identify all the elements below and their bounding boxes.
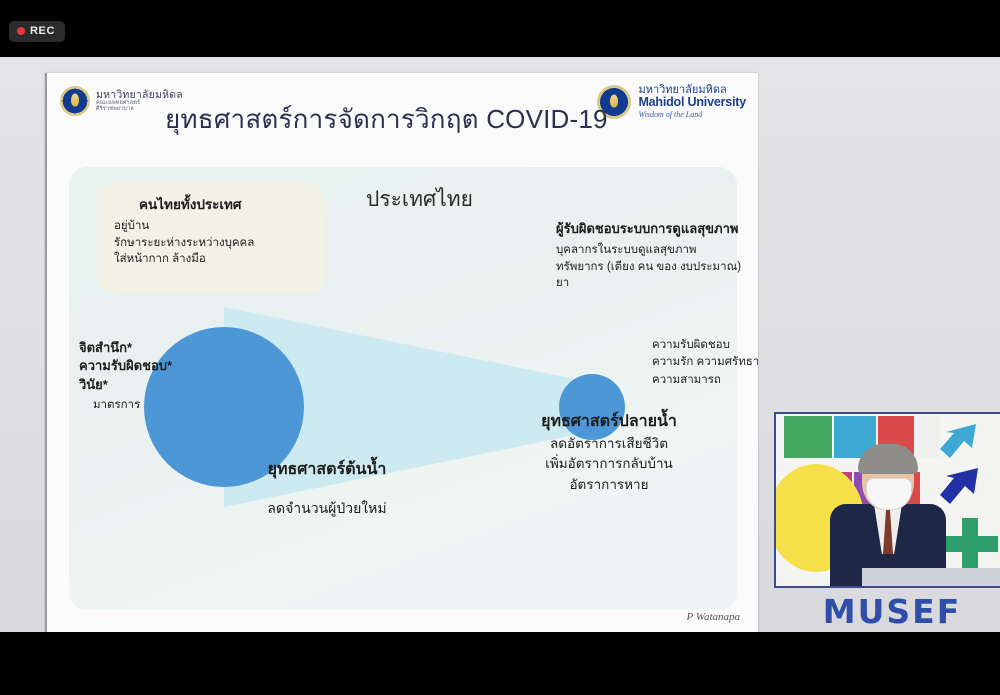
top-black-bar: REC	[0, 0, 1000, 57]
recording-badge: REC	[9, 21, 65, 42]
slide-credit: P Watanapa	[687, 611, 740, 623]
laptop	[862, 568, 1000, 588]
upstream-sub: ลดจำนวนผู้ป่วยใหม่	[217, 498, 437, 520]
speaker-video-tile[interactable]	[774, 412, 1000, 588]
right-value-2: ความรัก ความศรัทธา	[652, 354, 758, 371]
mahidol-university-logo: มหาวิทยาลัยมหิดล Mahidol University Wisd…	[597, 85, 746, 119]
shared-screen-stage: มหาวิทยาลัยมหิดล คณะแพทยศาสตร์ ศิริราชพย…	[0, 57, 1000, 632]
text-block-right-values: ความรับผิดชอบ ความรัก ความศรัทธา ความสาม…	[652, 337, 758, 389]
left-value-sub: มาตรการ	[93, 396, 172, 414]
left-value-1: จิตสำนึก*	[79, 339, 172, 357]
text-block-people: คนไทยทั้งประเทศ อยู่บ้าน รักษาระยะห่างระ…	[114, 193, 254, 268]
recording-label: REC	[30, 25, 55, 37]
left-value-3: วินัย*	[79, 376, 172, 394]
speaker-hair	[858, 444, 918, 474]
downstream-heading: ยุทธศาสตร์ปลายน้ำ	[489, 409, 729, 434]
mu-org-en: Mahidol University	[638, 96, 746, 109]
musef-wordmark: MUSEF	[808, 595, 976, 628]
health-system-line-1: บุคลากรในระบบดูแลสุขภาพ	[556, 242, 741, 259]
people-line-2: รักษาระยะห่างระหว่างบุคคล	[114, 235, 254, 252]
health-system-line-2: ทรัพยากร (เตียง คน ของ งบประมาณ)	[556, 259, 741, 276]
downstream-line-2: เพิ่มอัตราการกลับบ้าน	[489, 454, 729, 474]
upstream-strategy-label: ยุทธศาสตร์ต้นน้ำ ลดจำนวนผู้ป่วยใหม่	[217, 457, 437, 520]
left-value-2: ความรับผิดชอบ*	[79, 357, 172, 375]
recording-dot-icon	[17, 27, 25, 35]
text-block-health-system: ผู้รับผิดชอบระบบการดูแลสุขภาพ บุคลากรในร…	[556, 218, 741, 292]
right-value-1: ความรับผิดชอบ	[652, 337, 758, 354]
screen-share-window: REC มหาวิทยาลัยมหิดล คณะแพทยศาสตร์ ศิริร…	[0, 0, 1000, 695]
mahidol-seal-icon	[60, 86, 90, 116]
upstream-heading: ยุทธศาสตร์ต้นน้ำ	[217, 457, 437, 482]
downstream-line-3: อัตราการหาย	[489, 475, 729, 495]
mu-tagline: Wisdom of the Land	[638, 110, 746, 119]
country-title: ประเทศไทย	[366, 183, 473, 216]
downstream-strategy-label: ยุทธศาสตร์ปลายน้ำ ลดอัตราการเสียชีวิต เพ…	[489, 409, 729, 495]
health-system-line-3: ยา	[556, 275, 741, 292]
people-line-3: ใส่หน้ากาก ล้างมือ	[114, 251, 254, 268]
presentation-slide: มหาวิทยาลัยมหิดล คณะแพทยศาสตร์ ศิริราชพย…	[45, 73, 758, 632]
text-block-left-values: จิตสำนึก* ความรับผิดชอบ* วินัย* มาตรการ	[79, 339, 172, 414]
diagram-panel: ประเทศไทย คนไทยทั้งประเทศ อยู่บ้าน รักษา…	[69, 167, 737, 610]
people-heading: คนไทยทั้งประเทศ	[139, 193, 254, 215]
people-line-1: อยู่บ้าน	[114, 218, 254, 235]
downstream-line-1: ลดอัตราการเสียชีวิต	[489, 434, 729, 454]
speaker-figure	[832, 448, 944, 588]
slide-title: ยุทธศาสตร์การจัดการวิกฤต COVID-19	[165, 99, 608, 140]
right-value-3: ความสามารถ	[652, 372, 758, 389]
bottom-black-bar	[0, 632, 1000, 695]
health-system-heading: ผู้รับผิดชอบระบบการดูแลสุขภาพ	[556, 218, 741, 239]
